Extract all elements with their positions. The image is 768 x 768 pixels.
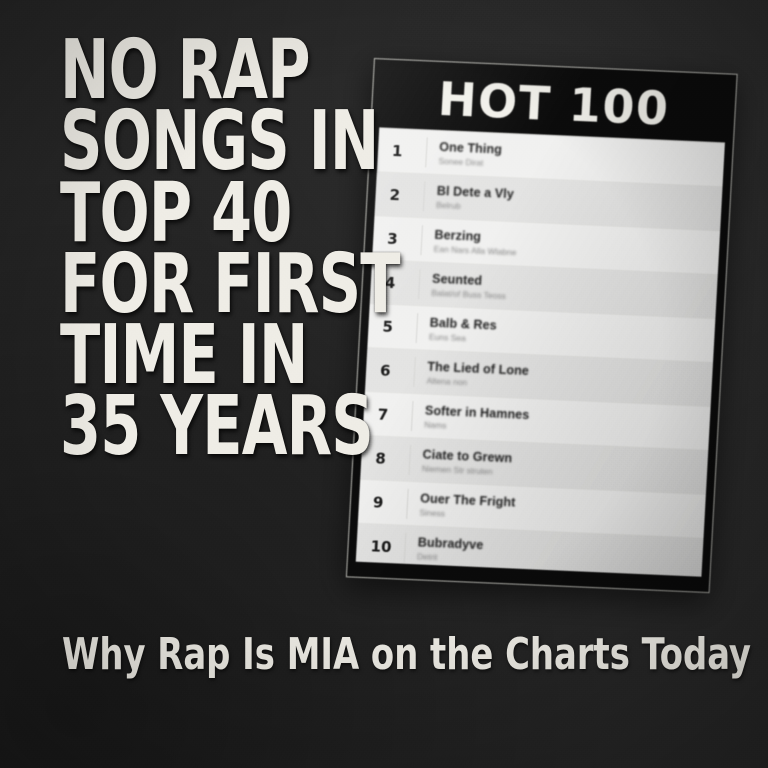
row-text-group: Berzing Ean Nars Alla Wlabne [434,227,714,265]
row-text-group: Bl Dete a Vly Belrub [436,183,716,221]
poster-canvas: HOT 100 1 One Thing Sonee Dirat 2 Bl Det… [0,0,768,768]
row-text-group: Softer in Hamnes Nams [424,403,704,441]
headline-line-6: 35 YEARS [60,392,380,461]
row-text-group: Ciate to Grewn Niemen Str struten [422,447,702,485]
row-text-group: Seunted Balat/of Buss Teoss [431,271,711,309]
row-divider [404,532,407,562]
row-rank: 9 [369,493,408,513]
page-title: NO RAP SONGS IN TOP 40 FOR FIRST TIME IN… [60,36,460,464]
row-text-group: Ouer The Fright Siness [419,491,699,529]
subtitle-text: Why Rap Is MIA on the Charts Today [62,633,751,677]
row-text-group: One Thing Sonee Dirat [438,139,718,177]
row-divider [406,488,409,518]
row-text-group: Bubradyve Detrit [417,535,697,573]
subtitle: Why Rap Is MIA on the Charts Today [62,633,768,677]
row-rank: 10 [366,537,405,557]
row-text-group: The Lied of Lone Altena non [426,359,706,397]
chart-header-title: HOT 100 [437,76,671,132]
row-text-group: Balb & Res Euns Sea [429,315,709,353]
